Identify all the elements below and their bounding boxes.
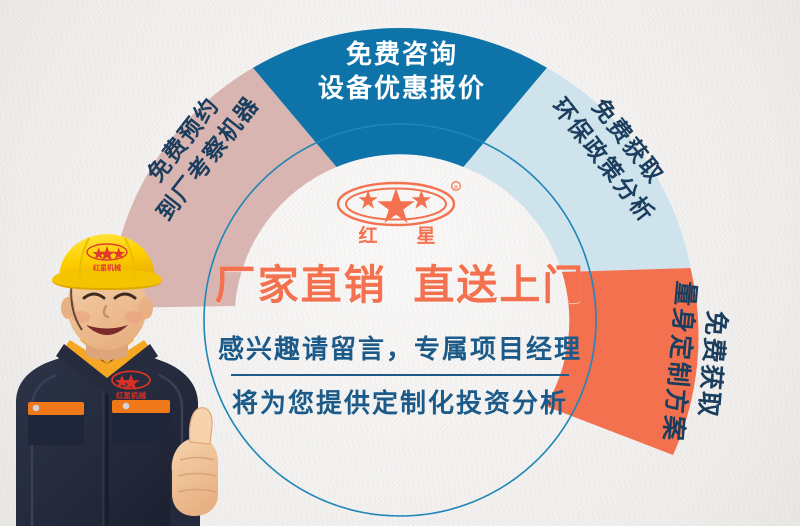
logo-char-hong: 红 <box>358 224 377 247</box>
promo-banner: 免费预约 到厂考察机器 免费咨询 设备优惠报价 免费获取 环保政策分析 免费获取… <box>0 0 800 526</box>
arc-label-consultation: 免费咨询 设备优惠报价 <box>288 38 516 106</box>
worker-pocket-right <box>112 400 170 413</box>
hongxing-logo: R 红 星 <box>320 178 480 250</box>
svg-text:红星机械: 红星机械 <box>116 390 146 400</box>
svg-text:R: R <box>454 185 458 191</box>
svg-text:红星机械: 红星机械 <box>93 263 121 272</box>
headline: 厂家直销 直送上门 <box>196 264 604 307</box>
subtitle-line-1: 感兴趣请留言，专属项目经理 <box>196 329 604 366</box>
subtitle-divider <box>231 374 569 376</box>
worker-hard-hat: 红星机械 <box>52 234 162 290</box>
logo-char-xing: 星 <box>416 225 435 247</box>
smiling-worker-thumbs-up: 红星机械 <box>0 232 224 526</box>
subtitle-line-2: 将为您提供定制化投资分析 <box>196 383 604 420</box>
center-content: R 红 星 厂家直销 直送上门 感兴趣请留言，专属项目经理 将为您提供定制化投资… <box>196 178 604 420</box>
